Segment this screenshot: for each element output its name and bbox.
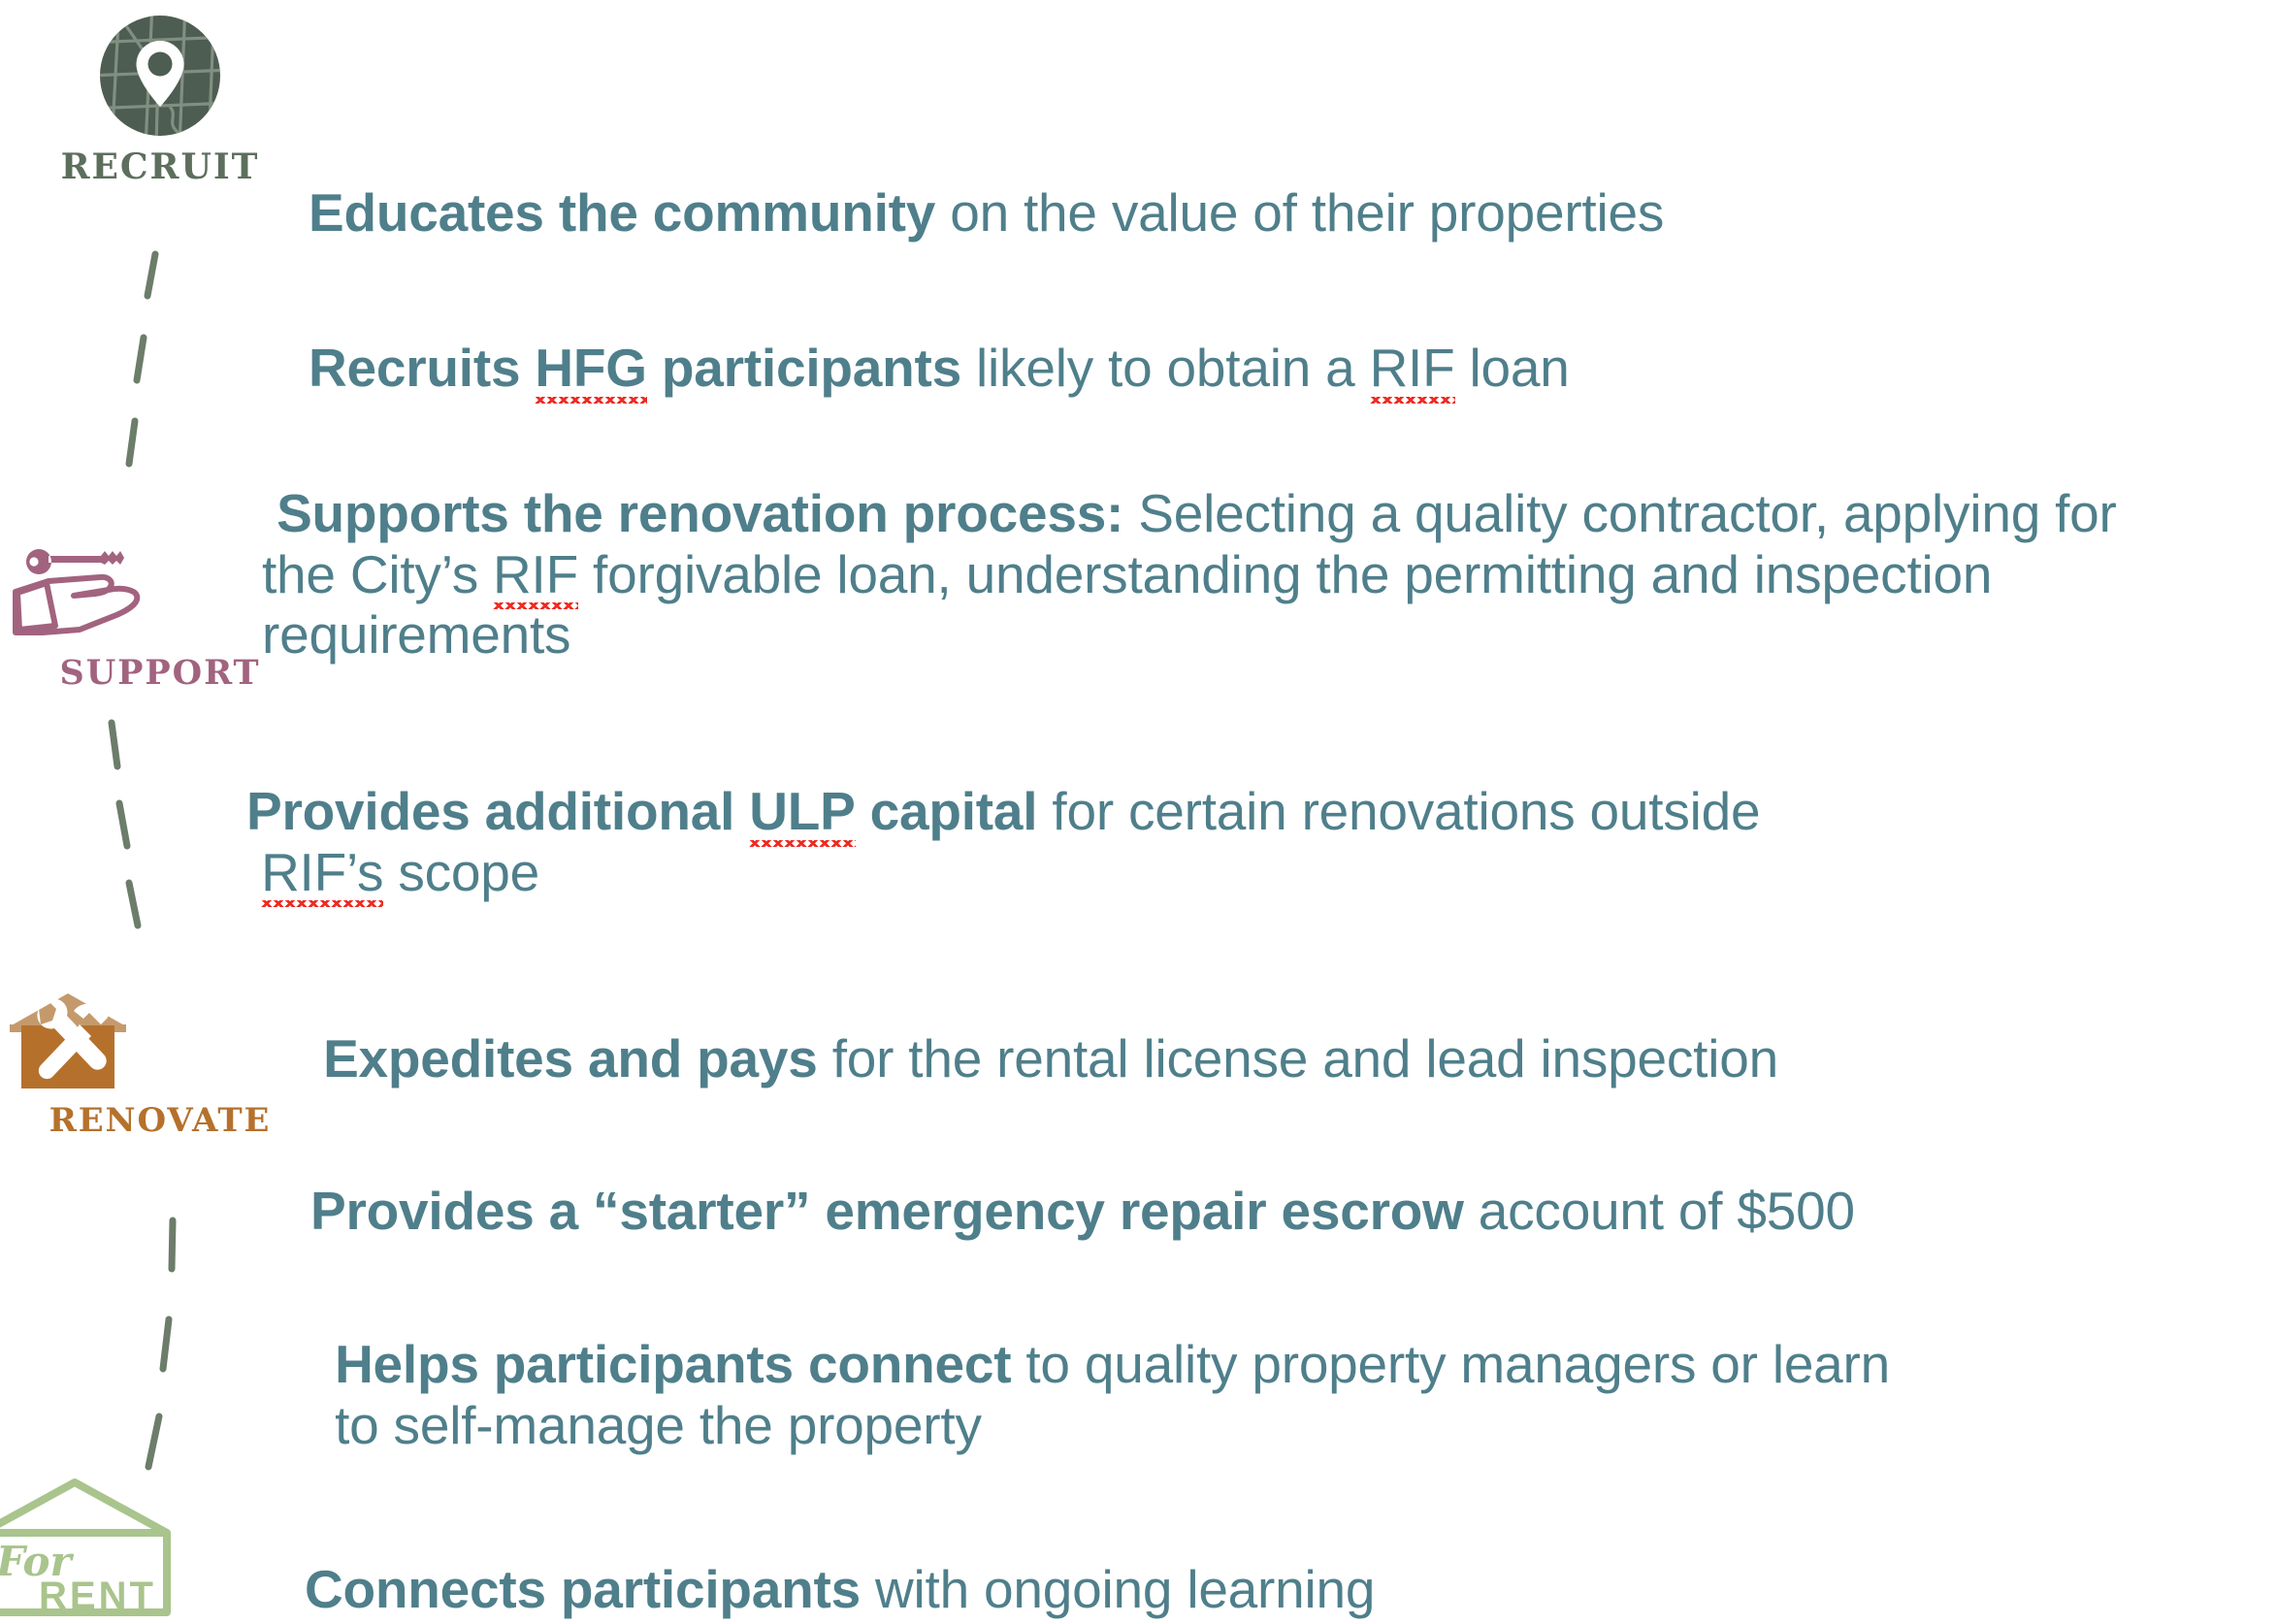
- statement-helps-connect: Helps participants connect to quality pr…: [320, 1334, 2261, 1455]
- statement-bold: Educates the community: [309, 182, 935, 243]
- for-rent-sign-icon: For RENT: [0, 1467, 186, 1622]
- misspelled-word-hfg[interactable]: HFG: [535, 338, 646, 399]
- statement-rest-post: loan: [1455, 338, 1570, 398]
- statement-rest: on the value of their properties: [935, 182, 1664, 243]
- house-tools-icon: [6, 988, 130, 1096]
- statement-supports-renovation: Supports the renovation process: Selecti…: [262, 483, 2193, 666]
- misspelled-word-rif[interactable]: RIF: [493, 544, 578, 605]
- statement-rest-post: scope: [383, 842, 539, 902]
- misspelled-word-rif[interactable]: RIF: [1370, 338, 1455, 399]
- statement-bold: Provides a “starter” emergency repair es…: [310, 1181, 1464, 1241]
- statement-bold-pre: Recruits: [309, 338, 535, 398]
- statement-provides-ulp-capital: Provides additional ULP capital for cert…: [246, 781, 2177, 902]
- hand-holding-key-icon: [8, 532, 153, 646]
- statement-rest: for the rental license and lead inspecti…: [818, 1028, 1778, 1088]
- statement-starter-escrow: Provides a “starter” emergency repair es…: [310, 1181, 1855, 1242]
- statement-bold: Connects participants: [305, 1559, 861, 1619]
- stage-label-recruit: RECRUIT: [0, 149, 320, 184]
- statement-bold-post: capital: [856, 781, 1038, 841]
- statement-bold-post: participants: [647, 338, 961, 398]
- statement-bold: Expedites and pays: [309, 1028, 818, 1088]
- for-rent-block-text: RENT: [39, 1575, 156, 1617]
- statement-rest: account of $500: [1464, 1181, 1855, 1241]
- stage-renovate[interactable]: RENOVATE: [0, 988, 320, 1137]
- misspelled-word-ulp[interactable]: ULP: [749, 781, 855, 842]
- statement-expedites-pays: Expedites and pays for the rental licens…: [309, 1028, 1778, 1089]
- statement-rest-pre: likely to obtain a: [961, 338, 1370, 398]
- statement-list: Educates the community on the value of t…: [309, 0, 2277, 1624]
- statement-bold: Supports the renovation process:: [262, 483, 1123, 543]
- statement-educates: Educates the community on the value of t…: [309, 182, 1664, 244]
- map-pin-circle-icon: [98, 14, 222, 138]
- misspelled-word-rifs[interactable]: RIF’s: [261, 842, 383, 903]
- statement-connects-learning: Connects participants with ongoing learn…: [305, 1559, 1375, 1620]
- statement-bold-pre: Provides additional: [246, 781, 749, 841]
- stage-recruit[interactable]: RECRUIT: [0, 14, 320, 184]
- statement-rest: with ongoing learning: [861, 1559, 1375, 1619]
- stage-for-rent[interactable]: For RENT: [0, 1467, 235, 1622]
- statement-bold: Helps participants connect: [320, 1334, 1011, 1394]
- stage-label-renovate: RENOVATE: [0, 1104, 320, 1137]
- statement-recruits-hfg: Recruits HFG participants likely to obta…: [309, 338, 1570, 399]
